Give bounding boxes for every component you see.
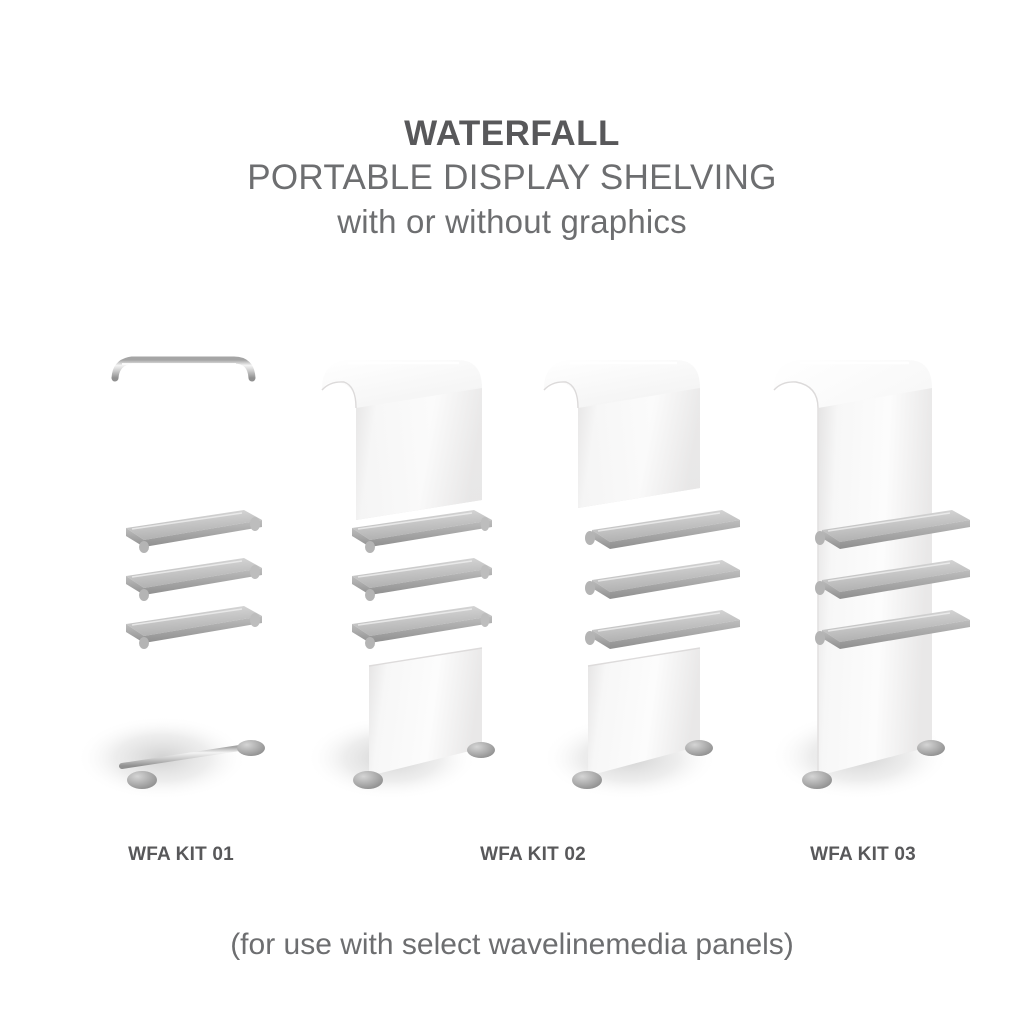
shelf-2	[352, 558, 492, 595]
foot-front	[572, 771, 602, 789]
shelf-clamp	[139, 589, 149, 601]
shelf-clamp	[139, 637, 149, 649]
shelf-clamp	[815, 531, 825, 545]
shelf-1	[592, 510, 740, 549]
kit-label-01: WFA KIT 01	[66, 844, 296, 866]
shelf-clamp	[585, 581, 595, 595]
graphic-panel-top-shade	[356, 388, 482, 520]
product-row: WFA KIT 01 WFA KIT 02 WFA KIT 03	[0, 0, 1024, 1024]
shelf-clamp	[250, 517, 260, 531]
graphic-panel-top-shade	[578, 388, 700, 508]
shelf-clamp	[815, 581, 825, 595]
product-unit-4	[756, 348, 986, 818]
shelf-clamp	[481, 517, 490, 531]
foot-rear	[917, 740, 945, 756]
foot-front	[802, 771, 832, 789]
shelf-clamp	[365, 541, 375, 553]
shelf-clamp	[365, 589, 375, 601]
foot-rear	[467, 742, 495, 758]
foot-rear	[685, 740, 713, 756]
shelf-clamp	[481, 613, 490, 627]
shelf-clamp	[815, 631, 825, 645]
foot-rear	[237, 740, 265, 756]
foot-front	[127, 771, 157, 789]
shelf-clamp	[481, 565, 490, 579]
shelf-clamp	[365, 637, 375, 649]
kit-label-02: WFA KIT 02	[418, 844, 648, 866]
shelf-clamp	[250, 565, 260, 579]
kit-label-03: WFA KIT 03	[748, 844, 978, 866]
shelf-3	[592, 610, 740, 649]
waterfall-top-curve	[115, 360, 252, 378]
shelf-3	[352, 606, 492, 643]
product-unit-1	[66, 348, 296, 818]
product-unit-3	[526, 348, 756, 818]
product-showcase-image: WATERFALL PORTABLE DISPLAY SHELVING with…	[0, 0, 1024, 1024]
shelf-clamp	[250, 613, 260, 627]
foot-front	[353, 771, 383, 789]
footer-note: (for use with select wavelinemedia panel…	[0, 928, 1024, 962]
shelf-2	[592, 560, 740, 599]
shelf-clamp	[139, 541, 149, 553]
shelf-clamp	[585, 631, 595, 645]
shelf-clamp	[585, 531, 595, 545]
product-unit-2	[296, 348, 526, 818]
